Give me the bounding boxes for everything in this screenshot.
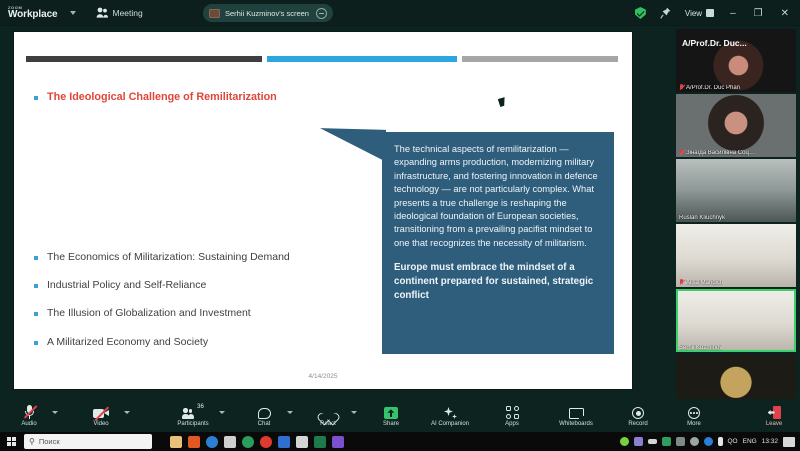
zoom-meeting-window: zoom Workplace Meeting Serhii Kuzminov's… [0,0,800,451]
video-control-group: Video [80,399,130,432]
video-options-chevron-down-icon[interactable] [124,411,130,414]
slide-bullet-list: The Economics of Militarization: Sustain… [34,250,364,363]
slide-callout-box: The technical aspects of remilitarizatio… [382,132,614,354]
participant-name: Alisa Mahdich [686,280,723,286]
slide-bullet-label: Industrial Policy and Self-Reliance [47,278,206,292]
slide-progress-bar [26,56,618,62]
audio-control-group: Audio [8,399,58,432]
participant-name: Ruslan Kliuchnyk [679,215,725,221]
taskbar-app-excel[interactable] [314,436,326,448]
chat-control-group: Chat [243,399,293,432]
participants-icon: 36 [182,404,204,419]
share-screen-button[interactable]: Share [373,399,409,432]
workspace-chevron-down-icon[interactable] [70,11,76,15]
view-layout-icon [706,9,714,17]
react-control-group: React [307,399,357,432]
share-button-label: Share [383,421,399,427]
whiteboards-button-label: Whiteboards [559,421,593,427]
shared-screen-tab-label: Serhii Kuzminov's screen [225,9,311,18]
windows-start-button[interactable] [0,437,22,446]
notification-center-icon[interactable] [783,437,795,447]
slide-date: 4/14/2025 [14,373,632,380]
chat-options-chevron-down-icon[interactable] [287,411,293,414]
tray-icon-blue[interactable] [704,437,713,446]
more-button[interactable]: More [673,399,715,432]
record-button-label: Record [628,421,647,427]
apps-button-label: Apps [505,421,519,427]
zoom-title-bar: zoom Workplace Meeting Serhii Kuzminov's… [0,0,800,26]
microphone-muted-icon [24,404,35,419]
participants-control-group: 36 Participants [169,399,225,432]
participant-tile-pinned[interactable]: A/Prof.Dr. Duc... A/Prof.Dr. Duc Phan [676,29,796,92]
chat-button-label: Chat [258,421,271,427]
slide-bullet-label: The Illusion of Globalization and Invest… [47,306,251,320]
leave-button-label: Leave [766,421,782,427]
slide-bullet-item: Industrial Policy and Self-Reliance [34,278,364,292]
tab-thumbnail-icon [209,9,220,18]
react-button[interactable]: React [307,399,349,432]
mic-muted-icon [679,279,684,286]
shared-screen-tab[interactable]: Serhii Kuzminov's screen [203,4,333,22]
apps-button[interactable]: Apps [491,399,533,432]
participant-tile[interactable]: Ruslan Kliuchnyk [676,159,796,222]
tray-icon-network[interactable] [676,437,685,446]
view-button-label: View [685,9,702,18]
apps-grid-icon [506,404,519,419]
system-tray: QO ENG 13:32 [620,432,800,451]
mic-muted-icon [679,149,684,156]
meeting-nav-button[interactable]: Meeting [96,7,143,18]
slide-bullet-highlight-label: The Ideological Challenge of Remilitariz… [47,90,277,105]
whiteboard-icon [569,404,584,419]
close-button[interactable]: ✕ [772,0,800,26]
whiteboards-button[interactable]: Whiteboards [549,399,603,432]
pin-button[interactable] [653,0,678,26]
bullet-dot-icon [34,312,38,316]
callout-body-text: The technical aspects of remilitarizatio… [394,143,602,250]
tray-language-indicator[interactable]: ENG [743,438,757,445]
participants-button-label: Participants [177,421,208,427]
ai-sparkle-icon [443,404,457,419]
share-screen-icon [384,404,398,419]
workplace-label: Workplace [8,10,58,20]
participant-tile[interactable]: Зінаїда Василівна Соц… [676,94,796,157]
video-button-label: Video [93,421,108,427]
participant-name-bar: Ruslan Kliuchnyk [676,214,728,222]
participant-name-bar: A/Prof.Dr. Duc Phan [676,83,743,92]
slide-bullet-item: The Illusion of Globalization and Invest… [34,306,364,320]
taskbar-search-input[interactable]: ⚲ Поиск [24,434,152,449]
progress-segment-2 [267,56,457,62]
maximize-button[interactable]: ❐ [745,0,772,26]
taskbar-app-edge[interactable] [206,436,218,448]
slide-bullet-label: The Economics of Militarization: Sustain… [47,250,290,264]
tray-icon-teal[interactable] [662,437,671,446]
windows-taskbar: ⚲ Поиск QO ENG 13:32 [0,432,800,451]
taskbar-app-purple[interactable] [332,436,344,448]
callout-emphasis-text: Europe must embrace the mindset of a con… [394,261,602,303]
progress-segment-1 [26,56,262,62]
participant-tile[interactable]: Alisa Mahdich [676,224,796,287]
taskbar-app-light[interactable] [296,436,308,448]
participants-button[interactable]: 36 Participants [169,399,217,432]
taskbar-app-green[interactable] [242,436,254,448]
slide-highlight-bullet-group: The Ideological Challenge of Remilitariz… [34,90,364,105]
participant-name-bar: Serhii Kuzminov [676,344,725,352]
shield-icon [635,7,646,19]
chat-bubble-icon [258,404,271,419]
react-options-chevron-down-icon[interactable] [351,411,357,414]
video-button[interactable]: Video [80,399,122,432]
ai-companion-button[interactable]: AI Companion [423,399,477,432]
taskbar-app-explorer[interactable] [170,436,182,448]
participant-name-bar: Зінаїда Василівна Соц… [676,148,758,157]
taskbar-app-blue[interactable] [278,436,290,448]
taskbar-pinned-apps [170,436,344,448]
tray-icon-bar[interactable] [648,439,657,444]
encryption-shield-button[interactable] [628,0,653,26]
meeting-nav-label: Meeting [113,8,143,18]
bullet-dot-icon [34,96,38,100]
participants-options-chevron-down-icon[interactable] [219,411,225,414]
pinned-participant-name: A/Prof.Dr. Duc... [682,38,747,48]
slide-bullet-highlighted: The Ideological Challenge of Remilitariz… [34,90,364,105]
bullet-dot-icon [34,256,38,260]
window-controls-group: View – ❐ ✕ [628,0,800,26]
audio-button[interactable]: Audio [8,399,50,432]
windows-logo-icon [7,437,16,446]
audio-options-chevron-down-icon[interactable] [52,411,58,414]
callout-pointer-tail [320,118,386,162]
search-icon: ⚲ [29,437,35,446]
taskbar-app-gray[interactable] [224,436,236,448]
bullet-dot-icon [34,341,38,345]
tray-icon-green[interactable] [620,437,629,446]
tab-minimize-icon[interactable] [316,8,327,19]
participants-count: 36 [197,404,204,410]
taskbar-clock[interactable]: 13:32 [762,438,778,445]
record-icon [632,404,644,419]
tray-icon-sound[interactable] [690,437,699,446]
heart-icon [322,404,335,419]
slide-bullet-item: The Economics of Militarization: Sustain… [34,250,364,264]
participant-name-bar: Alisa Mahdich [676,278,726,287]
shared-screen-stage: The Ideological Challenge of Remilitariz… [0,26,672,399]
bullet-dot-icon [34,284,38,288]
zoom-workplace-logo: zoom Workplace [8,6,58,20]
tray-icon-purple[interactable] [634,437,643,446]
leave-icon [768,404,781,419]
slide-bullet-label: A Militarized Economy and Society [47,335,208,349]
presentation-slide: The Ideological Challenge of Remilitariz… [14,32,632,389]
chat-button[interactable]: Chat [243,399,285,432]
audio-button-label: Audio [21,421,36,427]
pin-icon [660,7,671,19]
tray-keyboard-indicator[interactable]: QO [728,438,738,445]
view-button[interactable]: View [678,0,721,26]
participant-name: Зінаїда Василівна Соц… [686,150,755,156]
taskbar-app-chrome[interactable] [260,436,272,448]
ai-companion-button-label: AI Companion [431,421,469,427]
people-icon [96,7,108,18]
record-button[interactable]: Record [617,399,659,432]
participant-name: Serhii Kuzminov [679,345,722,351]
camera-muted-icon [93,404,109,419]
participant-name: A/Prof.Dr. Duc Phan [686,85,740,91]
slide-bullet-item: A Militarized Economy and Society [34,335,364,349]
taskbar-app-orange[interactable] [188,436,200,448]
minimize-button[interactable]: – [721,0,745,26]
search-placeholder: Поиск [39,437,60,446]
leave-meeting-button[interactable]: Leave [754,399,794,432]
more-ellipsis-icon [688,404,700,419]
progress-segment-3 [462,56,618,62]
mic-muted-icon [679,84,684,91]
meeting-control-bar: Audio Video 36 Participants [0,399,800,432]
more-button-label: More [687,421,701,427]
participant-video-strip: A/Prof.Dr. Duc... A/Prof.Dr. Duc Phan Зі… [672,26,800,399]
participant-tile-active-speaker[interactable]: Serhii Kuzminov [676,289,796,352]
tray-icon-battery[interactable] [718,437,723,446]
